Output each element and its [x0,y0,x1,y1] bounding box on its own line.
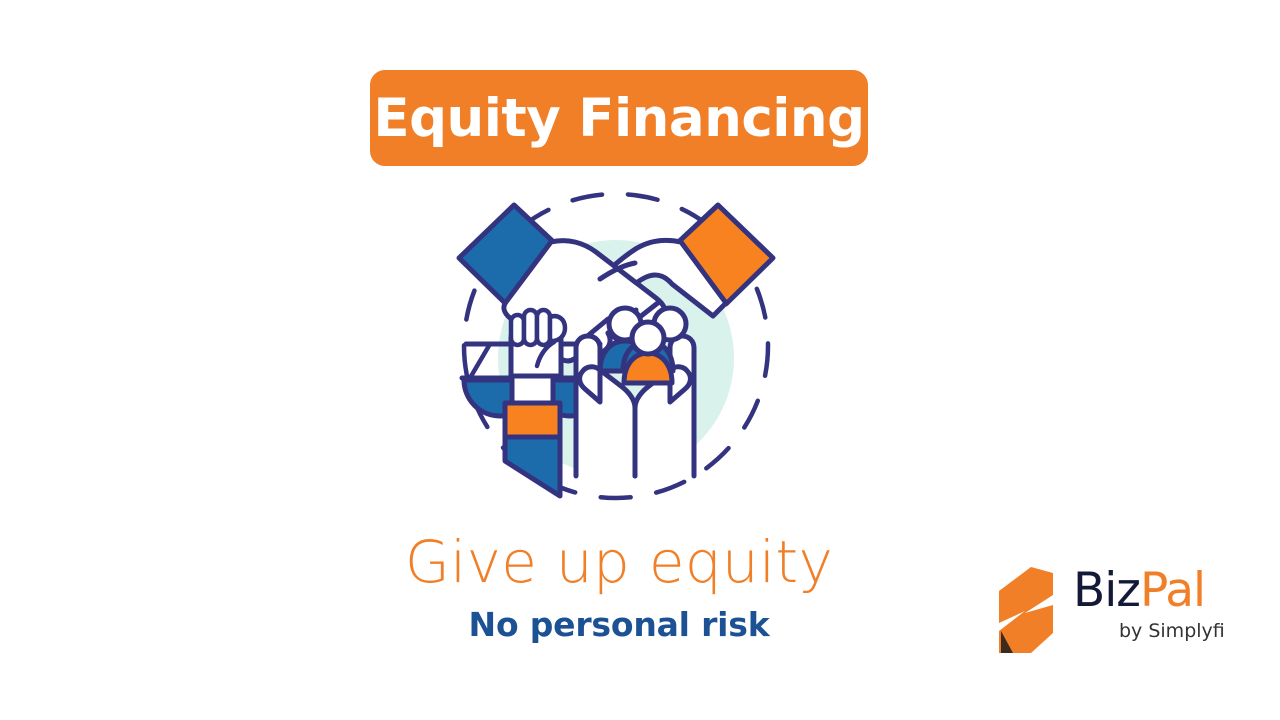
bizpal-s-mark-icon [995,565,1057,655]
fist-thumb [550,316,565,341]
bizpal-logo: BizPal by Simplyfi [995,565,1235,655]
wordmark-pal: Pal [1140,563,1205,618]
page-title: Equity Financing [373,92,864,145]
illustration-svg [448,186,784,512]
person-front-head [632,322,664,354]
raised-fist-icon [505,310,565,496]
bizpal-wordmark: BizPal [1073,567,1205,614]
equity-financing-illustration [448,186,784,512]
logo-tagline: by Simplyfi [1119,622,1225,641]
slide-canvas: Equity Financing [0,0,1280,720]
fist-sleeve-lower [505,436,560,496]
bizpal-s-mark-svg [995,565,1057,655]
wordmark-biz: Biz [1073,563,1140,618]
person-front-body [624,353,672,383]
fist-cuff [505,403,560,437]
s-mark-shape [999,567,1053,653]
title-banner: Equity Financing [370,70,868,166]
